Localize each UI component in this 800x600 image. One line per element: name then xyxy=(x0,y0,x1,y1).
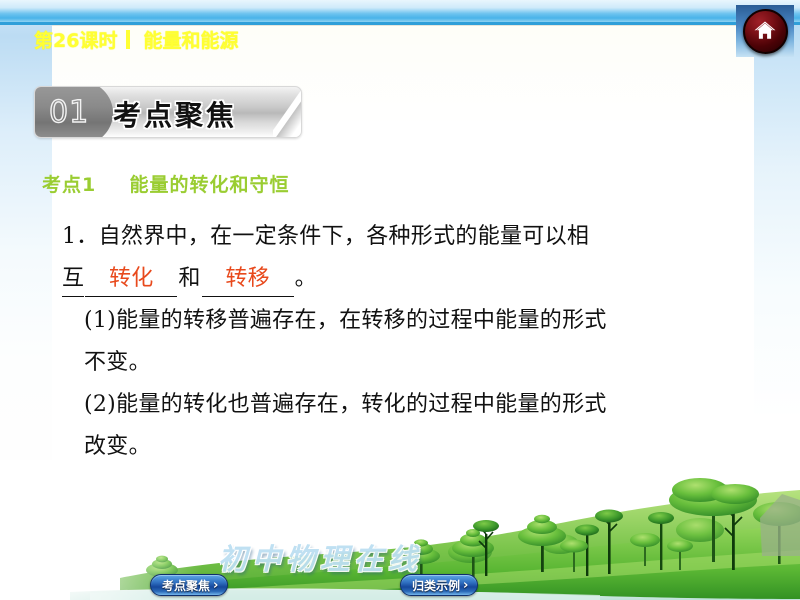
title-divider-bar xyxy=(126,30,130,49)
nav-button-kaodian-jujiao[interactable]: 考点聚焦 › xyxy=(150,574,228,596)
item1-line2: 互转化和转移。 xyxy=(62,258,692,300)
banner-number: 01 xyxy=(49,95,89,130)
item1-line2-prefix: 互 xyxy=(62,262,84,297)
item1-line2-suffix: 。 xyxy=(295,266,317,291)
watermark-text: 初中物理在线 xyxy=(218,536,422,578)
item1-line1: 1．自然界中，在一定条件下，各种形式的能量可以相 xyxy=(62,216,692,258)
sub2-line1: (2)能量的转化也普遍存在，转化的过程中能量的形式 xyxy=(62,384,692,426)
sub1-line1: (1)能量的转移普遍存在，在转移的过程中能量的形式 xyxy=(62,300,692,342)
sub1-line2: 不变。 xyxy=(62,342,692,384)
home-button[interactable] xyxy=(736,5,794,57)
landscape-illustration xyxy=(0,460,800,600)
answer-blank-1[interactable]: 转化 xyxy=(85,262,177,297)
item1-line2-mid: 和 xyxy=(178,266,200,291)
page-title: 第26课时 能量和能源 xyxy=(34,26,238,53)
nav-button-label: 考点聚焦 xyxy=(162,577,210,594)
top-blue-band xyxy=(0,0,800,22)
chevron-right-icon: › xyxy=(463,578,468,593)
banner-page-fold xyxy=(273,89,302,138)
subheading-text: 能量的转化和守恒 xyxy=(129,174,289,196)
lesson-topic: 能量和能源 xyxy=(143,26,238,53)
answer-blank-2[interactable]: 转移 xyxy=(202,262,294,297)
banner-label: 考点聚焦 xyxy=(113,94,237,134)
home-icon xyxy=(753,19,777,43)
sub2-line2: 改变。 xyxy=(62,426,692,468)
nav-button-label: 归类示例 xyxy=(412,577,460,594)
decorative-landscape xyxy=(0,460,800,600)
subheading-prefix: 考点1 xyxy=(42,174,96,196)
lesson-number: 第26课时 xyxy=(34,26,117,53)
chevron-right-icon: › xyxy=(213,578,218,593)
slide-canvas: 第26课时 能量和能源 01 考点聚焦 考点1 能量的转化和守恒 1．自然界中，… xyxy=(0,0,800,600)
body-content: 1．自然界中，在一定条件下，各种形式的能量可以相 互转化和转移。 (1)能量的转… xyxy=(62,216,692,468)
subheading: 考点1 能量的转化和守恒 xyxy=(42,170,290,197)
home-button-circle xyxy=(743,9,788,54)
section-banner[interactable]: 01 考点聚焦 xyxy=(34,86,302,138)
nav-button-guilei-shili[interactable]: 归类示例 › xyxy=(400,574,478,596)
